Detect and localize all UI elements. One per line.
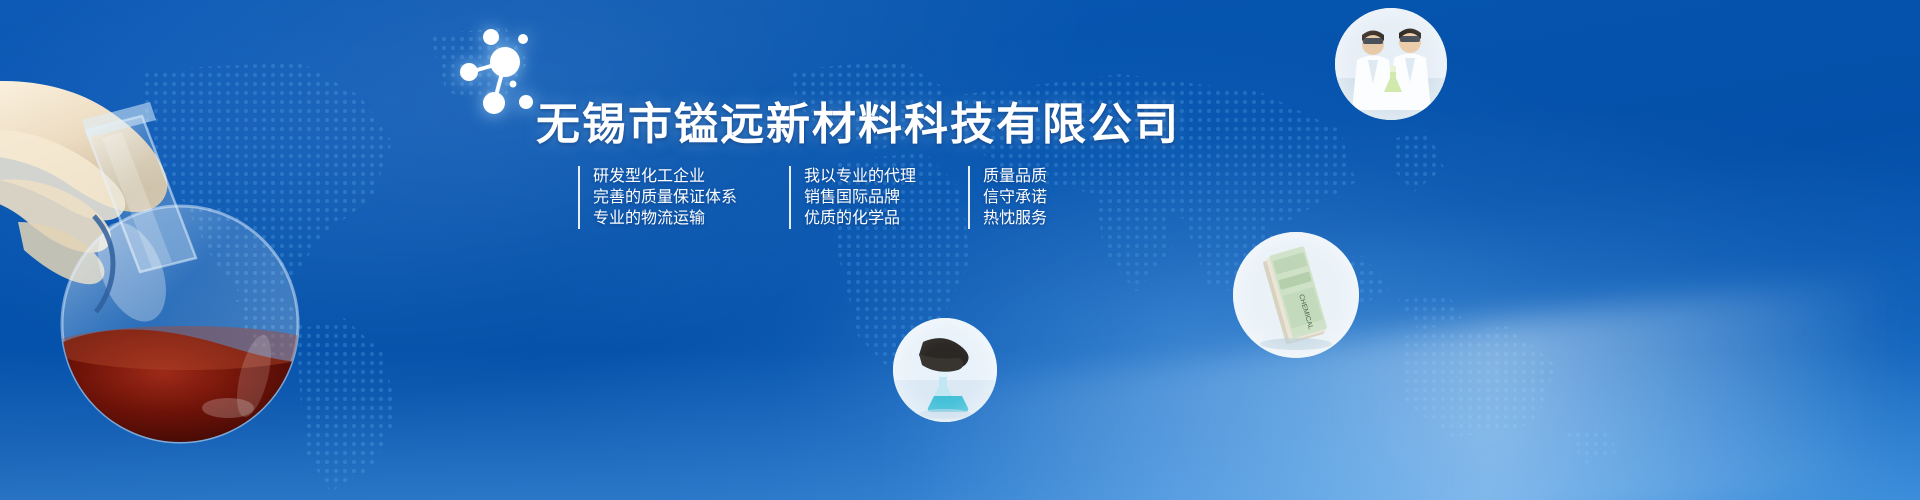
slogan-column-professional-agency: 我以专业的代理 销售国际品牌 优质的化学品 <box>789 166 916 229</box>
product-package-bubble: CHEMICAL <box>1233 232 1359 358</box>
slogan-line: 完善的质量保证体系 <box>593 187 737 208</box>
company-hero-banner: 无锡市镒远新材料科技有限公司 研发型化工企业 完善的质量保证体系 专业的物流运输… <box>0 0 1920 500</box>
slogan-line: 热忱服务 <box>983 208 1047 229</box>
laboratory-flask-photo <box>0 76 350 500</box>
slogan-line: 信守承诺 <box>983 187 1047 208</box>
slogan-group: 研发型化工企业 完善的质量保证体系 专业的物流运输 我以专业的代理 销售国际品牌… <box>578 166 1047 229</box>
slogan-line: 销售国际品牌 <box>804 187 916 208</box>
slogan-line: 优质的化学品 <box>804 208 916 229</box>
slogan-column-rnd-chemical-enterprise: 研发型化工企业 完善的质量保证体系 专业的物流运输 <box>578 166 737 229</box>
hand-with-flask-bubble <box>893 318 997 422</box>
page-title: 无锡市镒远新材料科技有限公司 <box>536 88 1180 152</box>
slogan-line: 质量品质 <box>983 166 1047 187</box>
slogan-line: 研发型化工企业 <box>593 166 737 187</box>
slogan-line: 专业的物流运输 <box>593 208 737 229</box>
slogan-line: 我以专业的代理 <box>804 166 916 187</box>
scientists-photo-bubble <box>1335 8 1447 120</box>
slogan-column-quality-commitment: 质量品质 信守承诺 热忱服务 <box>968 166 1047 229</box>
